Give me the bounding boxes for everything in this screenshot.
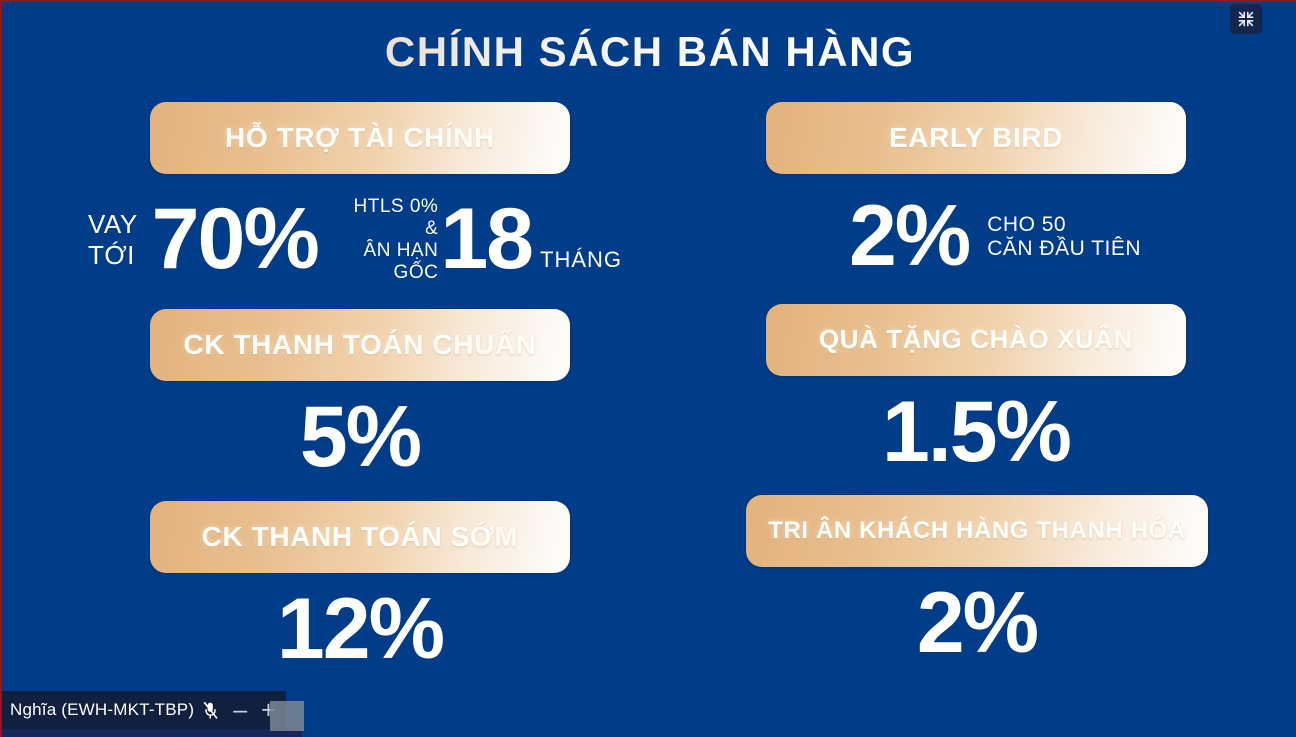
policy-pill-tri-an-khach-hang[interactable]: TRI ÂN KHÁCH HÀNG THANH HÓA (746, 495, 1208, 567)
policy-block-early-bird: EARLY BIRD 2% CHO 50 CĂN ĐẦU TIÊN (678, 102, 1238, 278)
loan-label-line1: VAY (88, 209, 138, 240)
grace-label: HTLS 0% & ÂN HẠN GỐC (336, 196, 439, 283)
policy-block-tri-an-khach-hang: TRI ÂN KHÁCH HÀNG THANH HÓA 2% (678, 495, 1238, 665)
policy-pill-label: EARLY BIRD (889, 122, 1063, 154)
finance-values-row: VAY TỚI 70% HTLS 0% & ÂN HẠN GỐC 18 THÁN… (62, 196, 622, 283)
policy-value-ck-thanh-toan-som: 12% (150, 589, 570, 671)
policy-column-left: HỖ TRỢ TÀI CHÍNH VAY TỚI 70% HTLS 0% & Â… (62, 102, 622, 671)
microphone-muted-icon[interactable] (202, 701, 219, 720)
policy-pill-ho-tro-tai-chinh[interactable]: HỖ TRỢ TÀI CHÍNH (150, 102, 570, 174)
grace-months-unit: THÁNG (540, 247, 622, 273)
policy-pill-label: CK THANH TOÁN SỚM (202, 521, 519, 553)
policy-pill-early-bird[interactable]: EARLY BIRD (766, 102, 1186, 174)
early-bird-note-line1: CHO 50 (987, 213, 1141, 237)
zoom-out-button[interactable]: – (233, 698, 247, 723)
early-bird-note-line2: CĂN ĐẦU TIÊN (987, 237, 1141, 261)
policy-block-ck-thanh-toan-chuan: CK THANH TOÁN CHUẨN 5% (62, 309, 622, 479)
loan-label-line2: TỚI (88, 240, 138, 271)
grace-months-value: 18 (440, 199, 532, 281)
policy-pill-ck-thanh-toan-som[interactable]: CK THANH TOÁN SỚM (150, 501, 570, 573)
loan-percent-value: 70% (152, 199, 318, 281)
slide-title: CHÍNH SÁCH BÁN HÀNG (2, 28, 1296, 76)
policy-block-qua-tang-chao-xuan: QUÀ TẶNG CHÀO XUÂN 1.5% (678, 304, 1238, 474)
participant-name: Nghĩa (EWH-MKT-TBP) (10, 700, 194, 720)
exit-fullscreen-icon (1237, 10, 1255, 28)
policy-pill-label: HỖ TRỢ TÀI CHÍNH (225, 122, 495, 154)
early-bird-percent-value: 2% (849, 196, 969, 278)
policy-pill-qua-tang-chao-xuan[interactable]: QUÀ TẶNG CHÀO XUÂN (766, 304, 1186, 376)
policy-pill-ck-thanh-toan-chuan[interactable]: CK THANH TOÁN CHUẨN (150, 309, 570, 381)
policy-block-ho-tro-tai-chinh: HỖ TRỢ TÀI CHÍNH VAY TỚI 70% HTLS 0% & Â… (62, 102, 622, 283)
loan-label: VAY TỚI (88, 209, 138, 271)
policy-column-right: EARLY BIRD 2% CHO 50 CĂN ĐẦU TIÊN QUÀ TẶ… (678, 102, 1238, 665)
mouse-cursor-artifact (270, 701, 304, 731)
early-bird-values-row: 2% CHO 50 CĂN ĐẦU TIÊN (678, 196, 1238, 278)
participant-name-bar[interactable]: Nghĩa (EWH-MKT-TBP) – + (2, 691, 286, 729)
policy-pill-label: QUÀ TẶNG CHÀO XUÂN (819, 324, 1133, 355)
policy-pill-label: CK THANH TOÁN CHUẨN (183, 329, 536, 361)
policy-block-ck-thanh-toan-som: CK THANH TOÁN SỚM 12% (62, 501, 622, 671)
policy-value-ck-thanh-toan-chuan: 5% (150, 397, 570, 479)
policy-pill-label: TRI ÂN KHÁCH HÀNG THANH HÓA (768, 517, 1186, 545)
presentation-slide: CHÍNH SÁCH BÁN HÀNG HỖ TRỢ TÀI CHÍNH VAY… (0, 0, 1296, 737)
policy-value-qua-tang-chao-xuan: 1.5% (766, 392, 1186, 474)
grace-label-line1: HTLS 0% & (336, 196, 439, 240)
policy-value-tri-an-khach-hang: 2% (746, 583, 1208, 665)
early-bird-note: CHO 50 CĂN ĐẦU TIÊN (987, 213, 1141, 261)
grace-label-line2: ÂN HẠN GỐC (336, 240, 439, 284)
